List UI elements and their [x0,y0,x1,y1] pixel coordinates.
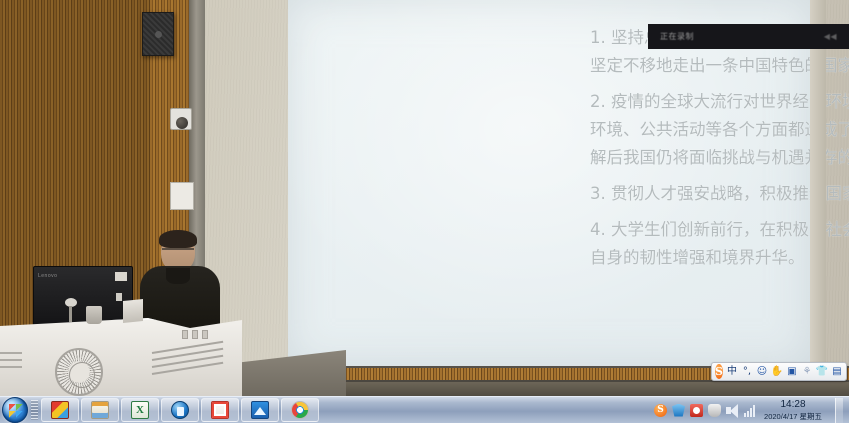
glasses-icon [162,248,194,254]
screenshot-root: 体安全观 1. 坚持总体国家安全观，统筹做好发展和安全两件大事， 坚定不移地走出… [0,0,849,423]
quick-launch-separator [31,400,38,420]
ime-emoji-icon[interactable]: ☺ [756,364,768,379]
clock-date: 2020/4/17 星期五 [764,412,822,421]
taskbar-item-word-document[interactable] [81,398,119,422]
screen-right-edge [810,0,826,368]
wall-control-panel [170,182,194,210]
photo-viewer-icon [211,401,229,419]
sogou-ime-toolbar[interactable]: S 中 °, ☺ ✋ ▣ ⚘ 👕 ▤ [711,362,847,381]
university-emblem-icon [55,348,103,396]
overlay-status-label: 正在录制 [660,31,694,42]
security-shield-tray-icon[interactable] [672,404,685,417]
blue-app-icon [171,401,189,419]
ime-screenshot-icon[interactable]: ▣ [786,364,798,379]
clock-time: 14:28 [781,399,806,410]
show-desktop-button[interactable] [835,398,843,423]
ime-voice-input-icon[interactable]: ✋ [771,364,783,379]
ime-toolbox-icon[interactable]: ▤ [831,364,843,379]
taskbar-item-photo-viewer[interactable] [201,398,239,422]
overlay-rewind-icon[interactable]: ◀◀ [824,32,837,41]
lecturer-hair [159,230,197,248]
sogou-logo-icon[interactable]: S [715,364,723,379]
ceiling-speaker-icon [142,12,174,56]
microphone-icon [62,298,80,322]
network-signal-icon[interactable] [744,404,757,417]
security-camera-icon [170,108,192,130]
case-label-tag-2 [116,293,122,301]
ime-punctuation-icon[interactable]: °, [741,364,753,379]
lecturer-collar [166,268,190,284]
lecturer [140,232,220,332]
start-button[interactable] [2,397,28,423]
sogou-tray-icon[interactable]: S [654,404,667,417]
equipment-brand-label: Lenovo [38,273,57,279]
taskbar-item-mountain-app[interactable] [241,398,279,422]
lecture-hall-photo: 体安全观 1. 坚持总体国家安全观，统筹做好发展和安全两件大事， 坚定不移地走出… [0,0,849,396]
ime-skin-icon[interactable]: 👕 [816,364,828,379]
word-document-icon [91,401,109,419]
equipment-case: Lenovo [33,266,133,326]
taskbar-clock[interactable]: 14:28 2020/4/17 星期五 [762,398,827,422]
volume-icon[interactable] [726,404,739,417]
excel-icon: X [131,401,149,419]
taskbar-item-excel[interactable]: X [121,398,159,422]
podium-stripes-right [152,352,224,380]
usb-drive-tray-icon[interactable] [708,404,721,417]
laptop-lid [123,299,143,323]
recording-overlay-bar[interactable]: 正在录制 ◀◀ [648,24,849,49]
antivirus-tray-icon[interactable] [690,404,703,417]
podium-control-buttons[interactable] [182,330,216,339]
projection-screen: 体安全观 1. 坚持总体国家安全观，统筹做好发展和安全两件大事， 坚定不移地走出… [288,0,810,366]
taskbar-item-winrar[interactable] [41,398,79,422]
system-tray: S 14:28 2020/4/17 星期五 [654,398,849,423]
ime-more-icon[interactable]: ⚘ [801,364,813,379]
taskbar-item-chrome[interactable] [281,398,319,422]
water-cup [86,306,102,324]
mountain-app-icon [251,401,269,419]
case-label-tag [115,272,127,281]
chrome-icon [291,401,309,419]
windows-taskbar: X S 14:28 2020/4/17 星期五 [0,396,849,423]
winrar-icon [51,401,69,419]
podium-stripes-left [0,352,22,376]
ime-chinese-mode-icon[interactable]: 中 [726,364,738,379]
taskbar-item-blue-app[interactable] [161,398,199,422]
